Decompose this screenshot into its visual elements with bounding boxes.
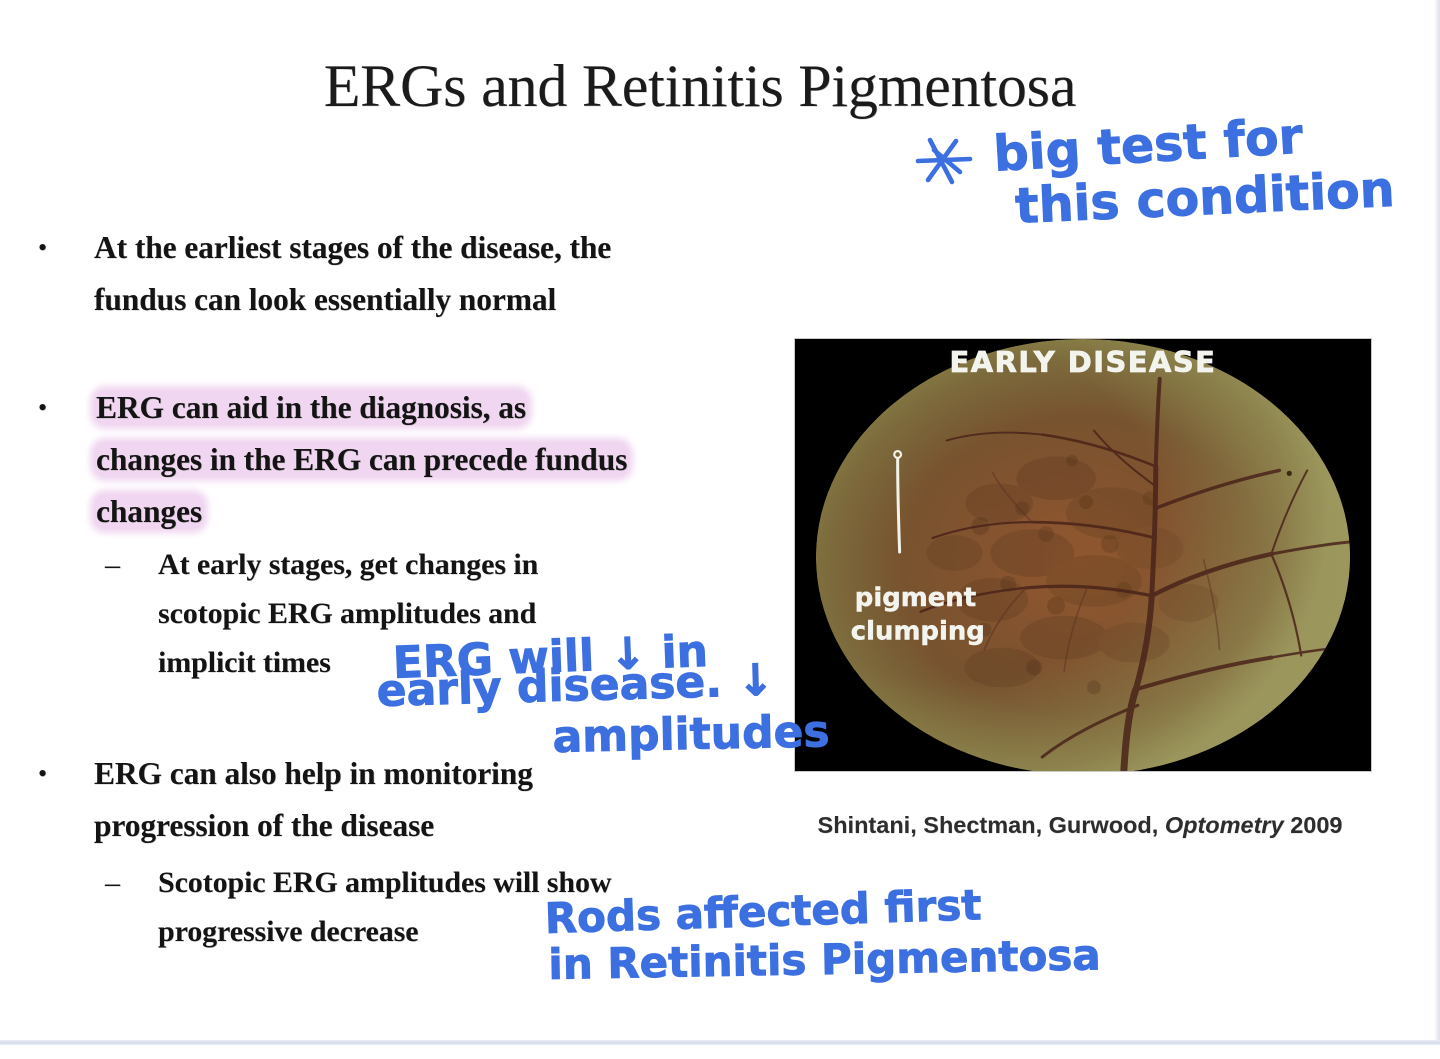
bullet-line: progression of the disease (94, 800, 794, 852)
star-mark-icon (912, 132, 978, 188)
slide-page: ERGs and Retinitis Pigmentosa • At the e… (0, 0, 1440, 1059)
citation-year: 2009 (1290, 812, 1342, 838)
bullet-marker: • (38, 222, 47, 274)
bullet-line: scotopic ERG amplitudes and (158, 589, 798, 638)
sub-bullet-marker: – (105, 540, 120, 589)
bullet-marker: • (38, 748, 47, 800)
page-gutter-below (0, 1045, 1440, 1059)
bullet-item-1: At the earliest stages of the disease, t… (94, 222, 794, 326)
highlight-span: changes (94, 494, 204, 529)
bullet-line: progressive decrease (158, 907, 798, 956)
figure-pointer-label-line1: pigment (855, 583, 976, 613)
figure-title-label: EARLY DISEASE (950, 345, 1217, 379)
fundus-image-svg: EARLY DISEASE pigment clumping (795, 339, 1371, 771)
bullet-line: Scotopic ERG amplitudes will show (158, 858, 798, 907)
figure-pointer-label-line2: clumping (851, 617, 985, 647)
bullet-line: At the earliest stages of the disease, t… (94, 222, 794, 274)
sub-bullet-item-1: At early stages, get changes in scotopic… (158, 540, 798, 687)
bullet-line-highlighted: changes in the ERG can precede fundus (94, 434, 794, 486)
bullet-line: ERG can also help in monitoring (94, 748, 794, 800)
annotation-top-right-line2: this condition (1014, 161, 1396, 235)
citation-authors: Shintani, Shectman, Gurwood, (818, 812, 1159, 838)
bullet-line: At early stages, get changes in (158, 540, 798, 589)
page-title: ERGs and Retinitis Pigmentosa (0, 52, 1400, 121)
sub-bullet-marker: – (105, 858, 120, 907)
sub-bullet-item-2: Scotopic ERG amplitudes will show progre… (158, 858, 798, 956)
bullet-line: fundus can look essentially normal (94, 274, 794, 326)
bullet-item-3: ERG can also help in monitoring progress… (94, 748, 794, 852)
bullet-marker: • (38, 382, 47, 434)
bullet-line-highlighted: changes (94, 486, 794, 538)
highlight-span: changes in the ERG can precede fundus (94, 442, 629, 477)
highlight-span: ERG can aid in the diagnosis, as (94, 390, 528, 425)
bullet-line-highlighted: ERG can aid in the diagnosis, as (94, 382, 794, 434)
fundus-photograph: EARLY DISEASE pigment clumping (794, 338, 1372, 772)
citation-journal: Optometry (1165, 812, 1284, 838)
page-edge-right (1434, 0, 1440, 1059)
bullet-line: implicit times (158, 638, 798, 687)
bullet-item-2: ERG can aid in the diagnosis, as changes… (94, 382, 794, 538)
figure-citation: Shintani, Shectman, Gurwood, Optometry 2… (760, 812, 1400, 839)
